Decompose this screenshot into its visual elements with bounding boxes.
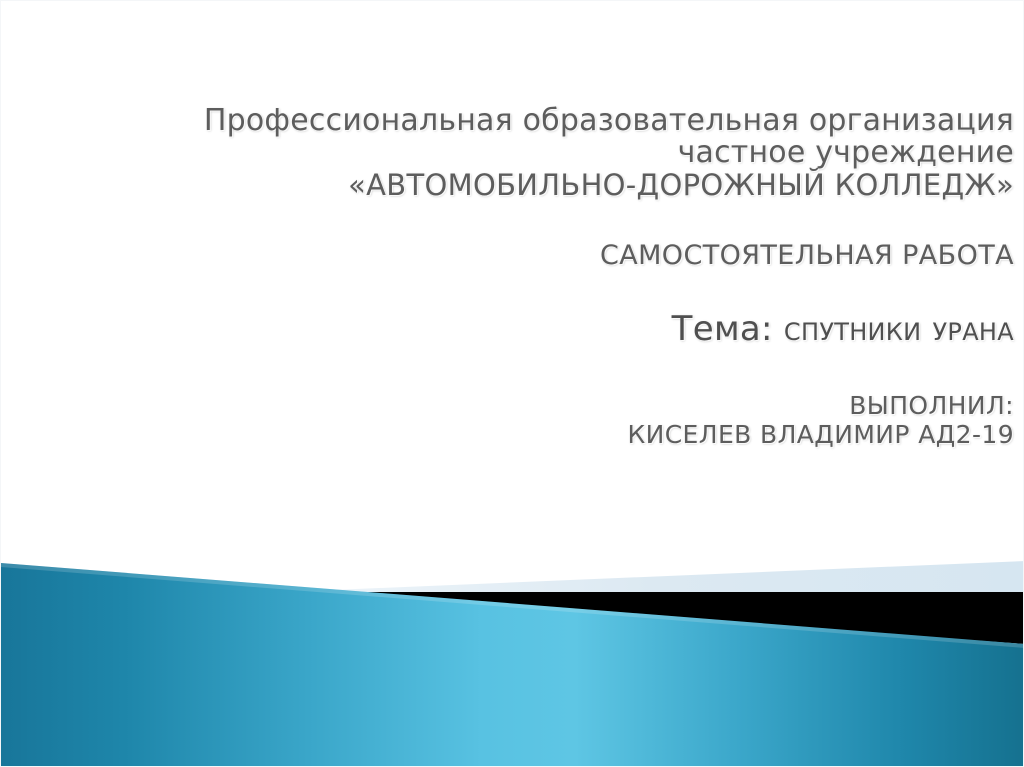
teal-wave-highlight: [1, 563, 1024, 648]
presentation-title-slide: Профессиональная образовательная организ…: [0, 0, 1024, 767]
performed-by-label: ВЫПОЛНИЛ:: [34, 391, 1014, 420]
footer-shapes-svg: [1, 536, 1024, 766]
organization-line-2: частное учреждение: [34, 137, 1014, 169]
organization-line-1: Профессиональная образовательная организ…: [34, 105, 1014, 137]
work-type-line: САМОСТОЯТЕЛЬНАЯ РАБОТА: [34, 241, 1014, 271]
teal-wave-shape: [1, 563, 1024, 766]
spacer-after-topic: [34, 349, 1014, 391]
black-wedge: [289, 592, 1024, 644]
author-name-line: КИСЕЛЕВ ВЛАДИМИР АД2-19: [34, 420, 1014, 449]
decorative-footer-graphic: [1, 536, 1024, 766]
topic-value: Спутники Урана: [784, 309, 1014, 349]
title-text-block: Профессиональная образовательная организ…: [34, 105, 1014, 449]
light-blue-wedge: [285, 561, 1024, 592]
topic-label: Тема:: [672, 309, 773, 349]
topic-line: Тема: Спутники Урана: [34, 309, 1014, 349]
spacer-after-organization: [34, 201, 1014, 241]
spacer-after-work-type: [34, 271, 1014, 309]
organization-line-3: «АВТОМОБИЛЬНО-ДОРОЖНЫЙ КОЛЛЕДЖ»: [34, 169, 1014, 201]
